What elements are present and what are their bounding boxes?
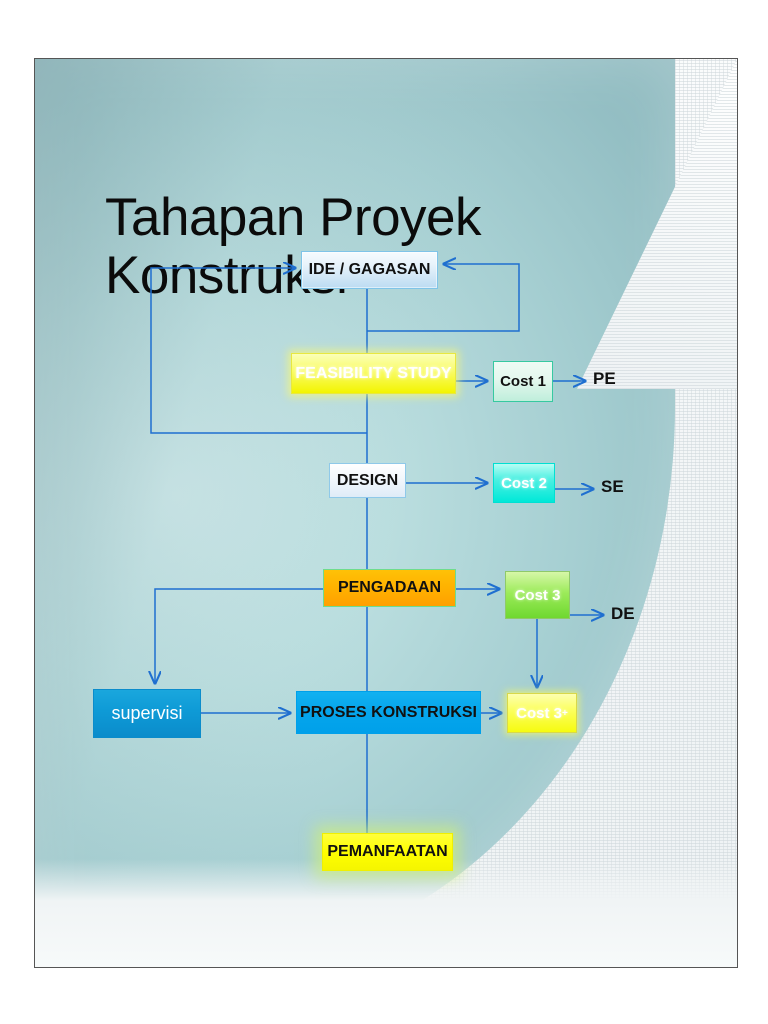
slide-canvas: Tahapan Proyek Konstruksi (34, 58, 738, 968)
node-label: Cost 3 (515, 587, 561, 604)
node-supervisi[interactable]: supervisi (93, 689, 201, 738)
label-se: SE (601, 477, 624, 497)
node-feasibility-study[interactable]: FEASIBILITY STUDY (291, 353, 456, 394)
node-label: supervisi (111, 703, 182, 724)
node-label: DESIGN (337, 472, 398, 490)
node-cost-3-plus[interactable]: Cost 3+ (507, 693, 577, 733)
flowchart: IDE / GAGASAN FEASIBILITY STUDY Cost 1 D… (35, 59, 737, 967)
node-design[interactable]: DESIGN (329, 463, 406, 498)
node-label: Cost 1 (500, 373, 546, 390)
node-label: PENGADAAN (338, 579, 441, 597)
label-pe: PE (593, 369, 616, 389)
flowchart-connectors (35, 59, 737, 967)
node-cost-2[interactable]: Cost 2 (493, 463, 555, 503)
node-cost-3[interactable]: Cost 3 (505, 571, 570, 619)
node-label: PROSES KONSTRUKSI (300, 704, 477, 722)
label-de: DE (611, 604, 635, 624)
node-pemanfaatan[interactable]: PEMANFAATAN (322, 833, 453, 871)
node-label: IDE / GAGASAN (309, 261, 431, 279)
node-label: Cost 3 (516, 705, 562, 722)
node-pengadaan[interactable]: PENGADAAN (323, 569, 456, 607)
node-proses-konstruksi[interactable]: PROSES KONSTRUKSI (296, 691, 481, 734)
node-label-suffix: + (562, 708, 568, 719)
node-label: FEASIBILITY STUDY (295, 365, 451, 383)
node-ide-gagasan[interactable]: IDE / GAGASAN (301, 251, 438, 289)
node-label: Cost 2 (501, 475, 547, 492)
node-label: PEMANFAATAN (327, 843, 447, 861)
node-cost-1[interactable]: Cost 1 (493, 361, 553, 402)
